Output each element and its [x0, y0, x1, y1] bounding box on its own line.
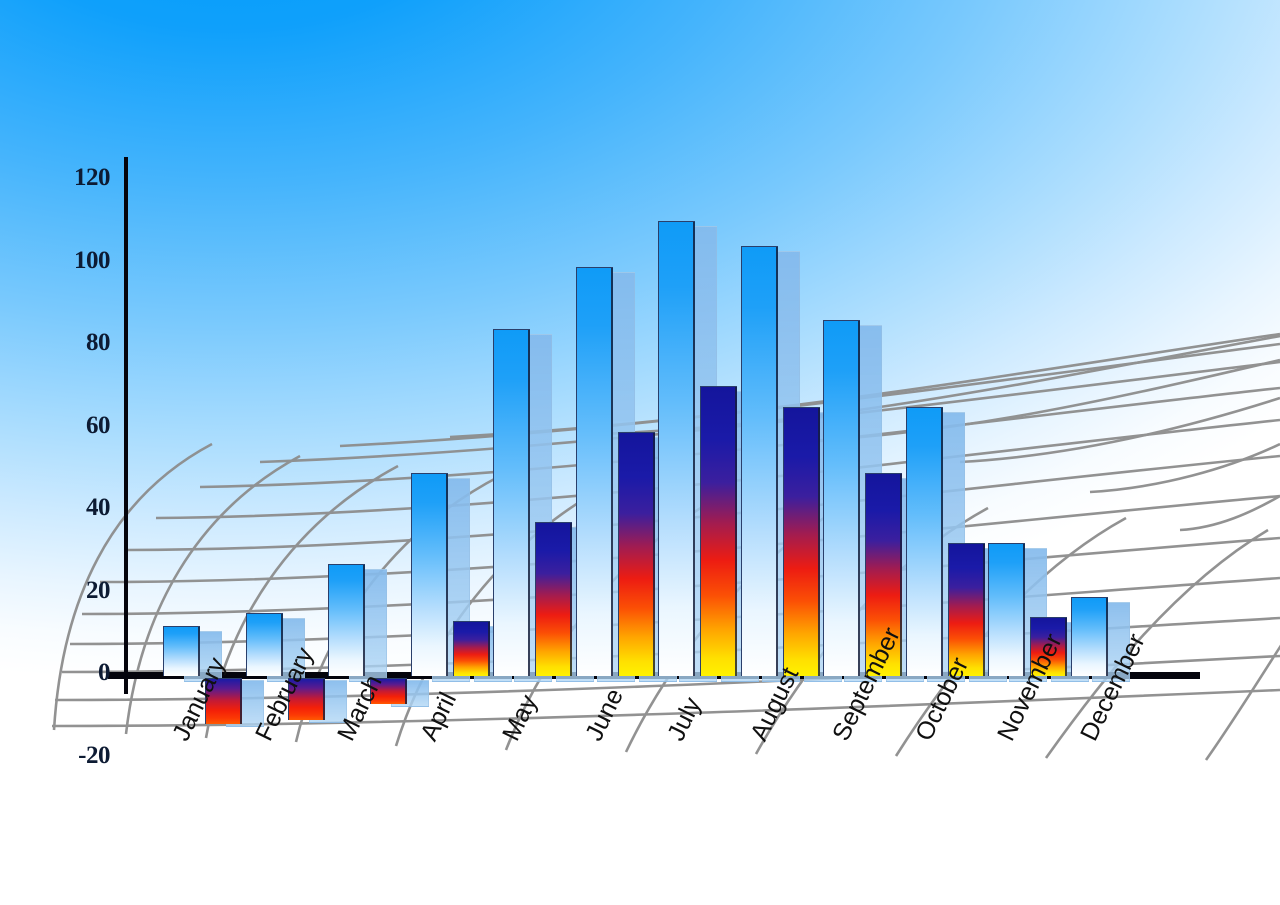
y-tick-label: 40 [48, 494, 110, 522]
x-tick-label-may: May [497, 691, 544, 746]
bar-series1 [163, 626, 200, 677]
bar-series1 [741, 246, 778, 676]
y-tick-label: 20 [48, 577, 110, 605]
bar-series2 [783, 407, 820, 676]
y-tick-label: 60 [48, 412, 110, 440]
chart-canvas: 120100806040200-20JanuaryFebruaryMarchAp… [0, 0, 1280, 905]
bar-series1 [823, 320, 860, 676]
bar-series1 [411, 473, 448, 676]
y-tick-label: 80 [48, 329, 110, 357]
bar-series1 [906, 407, 943, 676]
bar-series2 [535, 522, 572, 676]
bar-series1 [658, 221, 695, 676]
bar-series2 [618, 432, 655, 676]
y-tick-label: 120 [48, 164, 110, 192]
bar-series1 [1071, 597, 1108, 676]
bar-series1 [328, 564, 365, 676]
bar-series1 [493, 329, 530, 677]
y-tick-label: 0 [48, 659, 110, 687]
bar-series2 [700, 386, 737, 676]
bar-series2 [453, 621, 490, 676]
x-tick-label-june: June [580, 684, 630, 745]
y-tick-label: 100 [48, 247, 110, 275]
bar-series1 [988, 543, 1025, 676]
bar-series1 [246, 613, 283, 676]
chart-content: 120100806040200-20JanuaryFebruaryMarchAp… [0, 0, 1280, 905]
x-tick-label-july: July [662, 693, 708, 746]
bar-series1 [576, 267, 613, 676]
y-tick-label: -20 [48, 742, 110, 770]
